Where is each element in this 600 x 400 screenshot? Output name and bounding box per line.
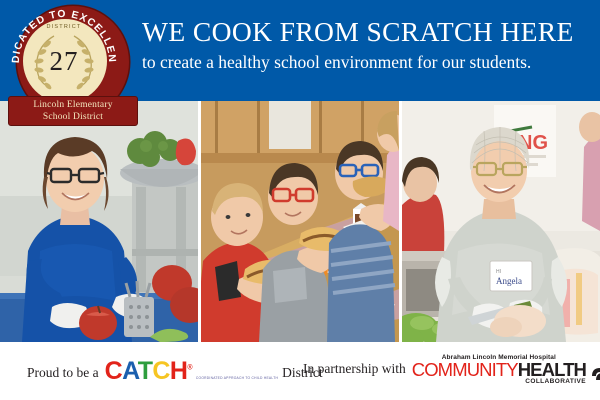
photo-kitchen-worker-chopping: KING (402, 101, 600, 342)
photo-2-artwork (201, 101, 399, 342)
seal-banner-line-1: Lincoln Elementary (9, 99, 137, 111)
photo-3-artwork: KING (402, 101, 600, 342)
svg-text:HI: HI (496, 269, 501, 275)
in-partnership-text: In partnership with (303, 361, 406, 377)
chc-wordmark: COMMUNITYHEALTH (412, 361, 586, 378)
seal-district-number: 27 (8, 46, 120, 77)
registered-trademark-icon: ® (187, 365, 192, 372)
poster-root: WE COOK FROM SCRATCH HERE to create a he… (0, 0, 600, 400)
catch-letter-h: H (170, 357, 187, 385)
catch-logo: CATCH® COORDINATED APPROACH TO CHILD HEA… (105, 358, 278, 384)
seal-banner-line-2: School District (9, 111, 137, 123)
page-subtitle: to create a healthy school environment f… (142, 52, 592, 72)
catch-letter-c1: C (105, 357, 122, 385)
chc-logo-mark-icon (589, 358, 600, 384)
footer-bar: Proud to be a CATCH® COORDINATED APPROAC… (0, 342, 600, 400)
district-seal-logo: DEDICATED TO EXCELLENCE (8, 4, 138, 132)
footer-catch-group: Proud to be a CATCH® COORDINATED APPROAC… (27, 356, 323, 382)
page-title: WE COOK FROM SCRATCH HERE (142, 18, 592, 47)
chc-word-health: HEALTH (518, 359, 586, 380)
seal-district-label: DISTRICT (8, 24, 120, 30)
catch-tagline: COORDINATED APPROACH TO CHILD HEALTH (196, 376, 278, 380)
catch-letter-a: A (122, 357, 138, 385)
catch-wordmark: CATCH® (105, 357, 192, 385)
photo-strip: KING (0, 101, 600, 342)
catch-letter-c2: C (152, 357, 169, 385)
community-health-collaborative-logo: Abraham Lincoln Memorial Hospital COMMUN… (412, 354, 600, 385)
photo-1-artwork (0, 101, 198, 342)
catch-letter-t: T (138, 357, 153, 385)
svg-text:Angela: Angela (496, 276, 522, 286)
photo-cafeteria-staff-apples (0, 101, 198, 342)
footer-partner-group: In partnership with Abraham Lincoln Memo… (303, 354, 600, 385)
proud-to-be-text: Proud to be a (27, 365, 99, 381)
chc-word-community: COMMUNITY (412, 359, 518, 380)
seal-name-banner: Lincoln Elementary School District (8, 96, 138, 126)
chc-text-block: Abraham Lincoln Memorial Hospital COMMUN… (412, 354, 586, 385)
photo-students-eating-lunch (201, 101, 399, 342)
headline-block: WE COOK FROM SCRATCH HERE to create a he… (142, 18, 592, 72)
